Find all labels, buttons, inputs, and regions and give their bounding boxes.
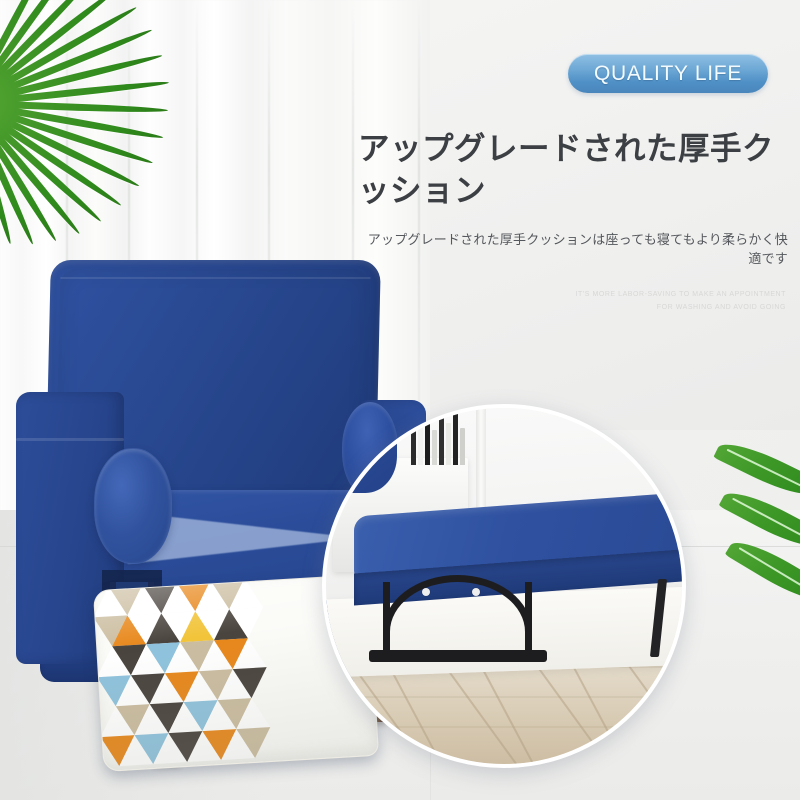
inset-book-spine (411, 418, 416, 465)
inset-book-spine (446, 423, 451, 465)
inset-book-spine (439, 416, 444, 465)
sofa-bolster-left (94, 448, 172, 564)
quality-life-badge: QUALITY LIFE (568, 54, 768, 93)
page-title: アップグレードされた厚手クッション (358, 128, 788, 212)
fine-print-line-1: IT'S MORE LABOR-SAVING TO MAKE AN APPOIN… (520, 288, 786, 301)
palm-frond-icon (0, 0, 200, 232)
fine-print: IT'S MORE LABOR-SAVING TO MAKE AN APPOIN… (520, 288, 786, 315)
inset-books (411, 412, 479, 465)
inset-floor-seam (326, 726, 682, 728)
inset-book-spine (432, 430, 437, 465)
inset-metal-leg-foot (369, 650, 547, 662)
inset-book-spine (425, 414, 430, 465)
inset-book-spine (460, 428, 465, 465)
sofa-armrest-seam (16, 438, 124, 441)
quality-life-badge-label: QUALITY LIFE (594, 62, 742, 86)
leaf-sprig-icon (686, 480, 800, 650)
detail-inset-circle (322, 404, 686, 768)
fine-print-line-2: FOR WASHING AND AVOID GOING (520, 301, 786, 314)
product-marketing-banner: QUALITY LIFE アップグレードされた厚手クッション アップグレードされ… (0, 0, 800, 800)
inset-book-spine (418, 427, 423, 465)
inset-metal-leg-frame (383, 582, 533, 660)
inset-book-spine (453, 412, 458, 465)
inset-floor-seam (326, 696, 682, 698)
inset-pillow-corner (322, 408, 362, 486)
